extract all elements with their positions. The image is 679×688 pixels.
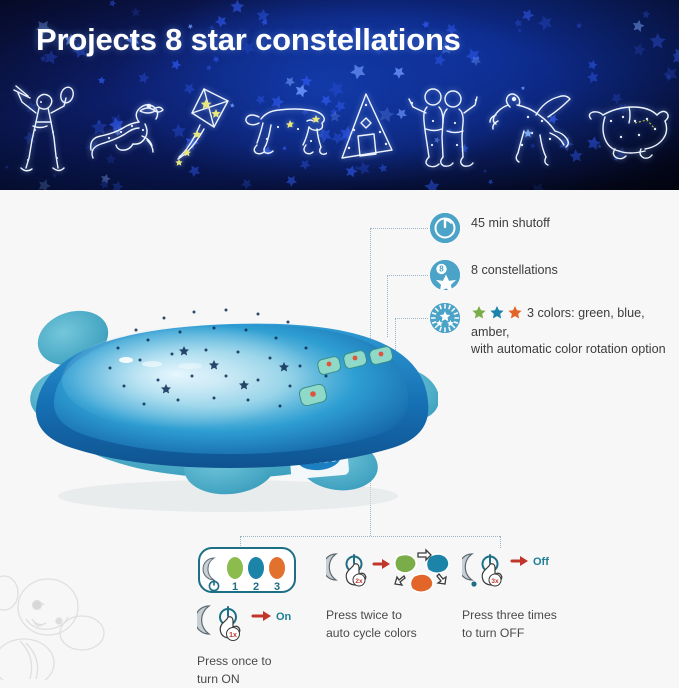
feature-label-constellations: 8 constellations bbox=[471, 260, 558, 279]
shell-glow bbox=[62, 326, 334, 434]
decorative-star bbox=[575, 22, 583, 30]
instruction-step-off: 3x Off Press three times to turn OFF bbox=[462, 548, 592, 642]
banner-title: Projects 8 star constellations bbox=[36, 22, 461, 58]
decorative-star bbox=[632, 42, 647, 57]
decorative-star bbox=[471, 56, 481, 66]
decorative-star bbox=[111, 181, 123, 190]
bear-constellation bbox=[585, 93, 671, 163]
kite-constellation bbox=[174, 83, 234, 173]
decorative-star bbox=[129, 7, 142, 20]
off-dot-icon bbox=[471, 581, 476, 586]
twilight-turtle-product: Cloud b bbox=[18, 268, 438, 518]
warrior-constellation bbox=[8, 82, 78, 174]
decorative-star bbox=[642, 9, 651, 18]
decorative-star bbox=[205, 64, 213, 72]
feature-callout-colors: 3 colors: green, blue, amber, with autom… bbox=[430, 303, 679, 358]
badge-number: 8 bbox=[439, 265, 444, 274]
press-once-diagram: 1x On bbox=[197, 601, 305, 647]
instruction-caption-off: Press three times to turn OFF bbox=[462, 607, 592, 642]
constellation-row bbox=[0, 76, 679, 180]
decorative-star bbox=[647, 31, 669, 53]
caption-line-2: to turn OFF bbox=[462, 626, 524, 640]
dog-constellation bbox=[243, 91, 327, 165]
caption-line-1: Press once to bbox=[197, 654, 272, 668]
color-button-1 bbox=[227, 557, 243, 579]
decorative-star bbox=[588, 59, 598, 69]
connector-h-feature-1 bbox=[370, 228, 428, 229]
instruction-caption-cycle: Press twice to auto cycle colors bbox=[326, 607, 466, 642]
timer-power-icon bbox=[430, 213, 460, 243]
press-twice-diagram: 2x bbox=[326, 548, 466, 596]
press-count-label: 2x bbox=[355, 578, 363, 585]
decorative-star bbox=[513, 18, 522, 27]
instruction-step-cycle: 2x Press twice to auto cycle colors bbox=[326, 548, 466, 642]
color-swatch-stars bbox=[471, 305, 525, 324]
button-label-1: 1 bbox=[232, 581, 238, 593]
control-panel-diagram: 1 2 3 bbox=[197, 546, 297, 594]
feature-label-shutoff: 45 min shutoff bbox=[471, 213, 550, 232]
button-label-3: 3 bbox=[274, 581, 280, 593]
product-infographic: Projects 8 star constellations bbox=[0, 0, 679, 679]
decorative-star bbox=[528, 179, 548, 190]
color-blob-orange bbox=[410, 574, 433, 592]
decorative-star bbox=[170, 58, 182, 70]
moon-icon bbox=[462, 554, 472, 580]
feature-colors-line2: with automatic color rotation option bbox=[471, 342, 666, 356]
press-count-label: 1x bbox=[229, 632, 237, 639]
connector-h-bottom bbox=[240, 536, 500, 537]
feature-callout-shutoff: 45 min shutoff bbox=[430, 213, 550, 243]
result-label-off: Off bbox=[533, 556, 549, 568]
press-count-label: 3x bbox=[491, 578, 499, 585]
connector-v-bottom-right bbox=[500, 536, 501, 548]
decorative-star bbox=[673, 47, 679, 59]
decorative-star bbox=[516, 27, 523, 34]
twins-constellation bbox=[407, 83, 479, 173]
decorative-star bbox=[109, 0, 118, 8]
decorative-star bbox=[630, 18, 646, 34]
dragon-constellation bbox=[87, 88, 165, 168]
decorative-star bbox=[230, 0, 247, 15]
pegasus-constellation bbox=[488, 87, 576, 169]
color-blob-green bbox=[395, 554, 417, 573]
decorative-star bbox=[521, 8, 534, 21]
press-three-times-diagram: 3x Off bbox=[462, 548, 582, 596]
color-button-2 bbox=[248, 557, 264, 579]
caption-line-1: Press twice to bbox=[326, 608, 402, 622]
feature-label-colors: 3 colors: green, blue, amber, with autom… bbox=[471, 303, 679, 358]
button-label-2: 2 bbox=[253, 581, 259, 593]
starry-banner: Projects 8 star constellations bbox=[0, 0, 679, 190]
moon-icon bbox=[326, 554, 336, 580]
result-label-on: On bbox=[276, 611, 292, 623]
caption-line-1: Press three times bbox=[462, 608, 557, 622]
house-constellation bbox=[336, 88, 398, 168]
moon-icon bbox=[197, 606, 209, 634]
color-button-3 bbox=[269, 557, 285, 579]
caption-line-2: auto cycle colors bbox=[326, 626, 417, 640]
instruction-caption-on: Press once to turn ON bbox=[197, 653, 317, 688]
decorative-star bbox=[537, 14, 555, 32]
decorative-turtle-sketch bbox=[0, 545, 190, 680]
instruction-step-on: 1 2 3 1x On Press once to turn ON bbox=[197, 546, 317, 688]
feature-callout-constellations: 8 8 constellations bbox=[430, 260, 558, 290]
